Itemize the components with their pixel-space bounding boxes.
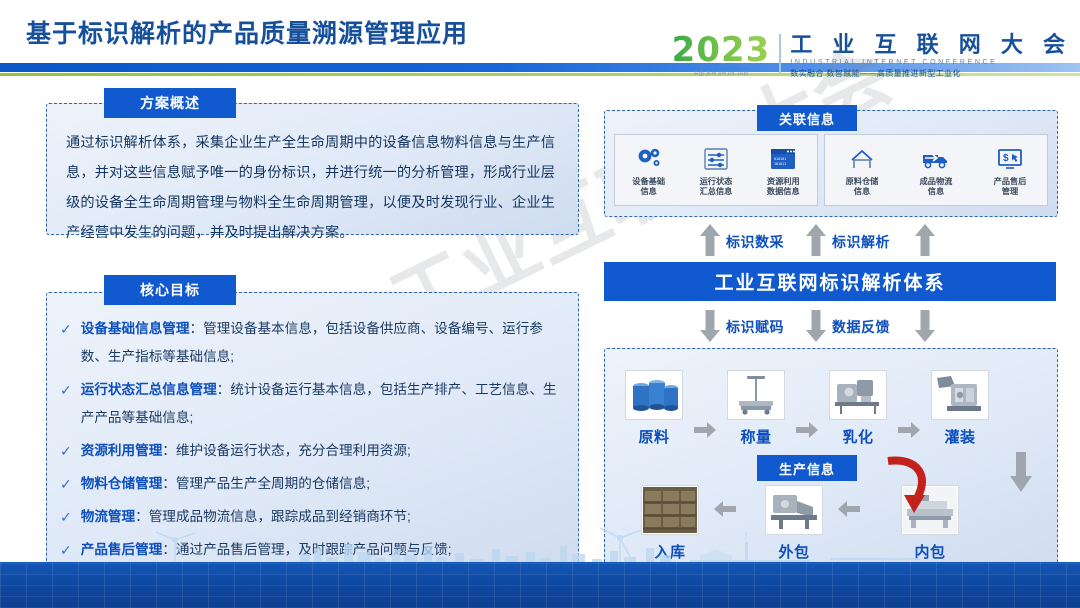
production-step-label: 称量: [740, 426, 771, 447]
arrow-down-icon: [1010, 452, 1032, 492]
production-step-label: 乳化: [842, 426, 873, 447]
platform-scale-icon: [727, 370, 785, 420]
overview-tag: 方案概述: [104, 88, 236, 118]
goal-title: 设备基础信息管理: [81, 321, 190, 336]
production-step: 灌装: [926, 370, 994, 447]
check-icon: ✓: [60, 470, 72, 498]
goal-item: ✓资源利用管理：维护设备运行状态，充分合理利用资源;: [60, 437, 570, 465]
goal-text: 物料仓储管理：管理产品生产全周期的仓储信息;: [81, 470, 570, 498]
flow-down-label-0: 标识赋码: [726, 317, 784, 337]
related-info-item: 设备基础 信息: [617, 144, 681, 197]
arrow-up-icon: [915, 224, 935, 256]
blue-drums-icon: [625, 370, 683, 420]
production-step-label: 原料: [638, 426, 669, 447]
filling-machine-icon: [931, 370, 989, 420]
goal-item: ✓物料仓储管理：管理产品生产全周期的仓储信息;: [60, 470, 570, 498]
related-info-caption: 设备基础 信息: [632, 177, 665, 197]
related-info-caption: 成品物流 信息: [920, 177, 953, 197]
conference-logo: 2023 中国·苏州 8月1日-18日 工 业 互 联 网 大 会 INDUST…: [672, 33, 1072, 79]
related-info-item: 成品物流 信息: [904, 144, 968, 197]
goal-text: 资源利用管理：维护设备运行状态，充分合理利用资源;: [81, 437, 570, 465]
arrow-down-icon: [700, 310, 720, 342]
goal-text: 运行状态汇总信息管理：统计设备运行基本信息，包括生产排产、工艺信息、生产产品等基…: [81, 376, 570, 432]
logo-english-name: INDUSTRIAL INTERNET CONFERENCE: [790, 57, 1072, 68]
svg-text:101011: 101011: [774, 162, 786, 166]
related-left-group: 设备基础 信息运行状态 汇总信息010101101011资源利用 数据信息: [614, 134, 818, 206]
logo-year: 2023: [672, 33, 771, 67]
goals-tag: 核心目标: [104, 275, 236, 305]
goal-item: ✓设备基础信息管理：管理设备基本信息，包括设备供应商、设备编号、运行参数、生产指…: [60, 315, 570, 371]
arrow-left-icon: [714, 501, 736, 517]
related-info-item: 运行状态 汇总信息: [684, 144, 748, 197]
logo-divider: [779, 34, 781, 74]
system-bar: 工业互联网标识解析体系: [604, 262, 1056, 301]
related-info-item: 010101101011资源利用 数据信息: [751, 144, 815, 197]
slide-canvas: 基于标识解析的产品质量溯源管理应用 2023 中国·苏州 8月1日-18日 工 …: [0, 0, 1080, 608]
truck-icon: [922, 144, 950, 174]
arrow-up-icon: [806, 224, 826, 256]
logo-chinese-name: 工 业 互 联 网 大 会: [790, 33, 1072, 57]
arrow-down-icon: [915, 310, 935, 342]
related-info-item: 原料仓储 信息: [830, 144, 894, 197]
gears-icon: [636, 144, 662, 174]
production-step: 原料: [620, 370, 688, 447]
flow-up-label-0: 标识数采: [726, 232, 784, 252]
related-info-caption: 资源利用 数据信息: [767, 177, 800, 197]
related-info-caption: 运行状态 汇总信息: [700, 177, 733, 197]
overview-paragraph: 通过标识解析体系，采集企业生产全生命周期中的设备信息物料信息与生产信息，并对这些…: [66, 128, 566, 248]
related-info-item: $产品售后 管理: [978, 144, 1042, 197]
related-info-caption: 产品售后 管理: [994, 177, 1027, 197]
flow-up-label-1: 标识解析: [832, 232, 890, 252]
check-icon: ✓: [60, 376, 72, 404]
arrow-down-icon: [806, 310, 826, 342]
goal-title: 运行状态汇总信息管理: [81, 382, 217, 397]
warehouse-icon: [849, 144, 875, 174]
related-info-tag: 关联信息: [757, 105, 857, 131]
goal-text: 设备基础信息管理：管理设备基本信息，包括设备供应商、设备编号、运行参数、生产指标…: [81, 315, 570, 371]
arrow-right-icon: [898, 422, 920, 438]
production-step: 称量: [722, 370, 790, 447]
check-icon: ✓: [60, 315, 72, 343]
related-info-caption: 原料仓储 信息: [846, 177, 879, 197]
sliders-icon: [703, 144, 729, 174]
red-loop-arrow-icon: [880, 455, 940, 515]
footer-band: [0, 562, 1080, 608]
production-step-label: 灌装: [944, 426, 975, 447]
logo-tagline: 数实融合 数智赋能——高质量推进新型工业化: [790, 68, 1072, 79]
flow-down-label-1: 数据反馈: [832, 317, 890, 337]
emulsifier-machine-icon: [829, 370, 887, 420]
goal-item: ✓运行状态汇总信息管理：统计设备运行基本信息，包括生产排产、工艺信息、生产产品等…: [60, 376, 570, 432]
arrow-left-icon: [838, 501, 860, 517]
production-step: 乳化: [824, 370, 892, 447]
page-title: 基于标识解析的产品质量溯源管理应用: [26, 14, 468, 50]
arrow-up-icon: [700, 224, 720, 256]
code-window-icon: 010101101011: [770, 144, 796, 174]
svg-text:$: $: [1003, 153, 1009, 164]
related-right-group: 原料仓储 信息成品物流 信息$产品售后 管理: [824, 134, 1048, 206]
goal-title: 资源利用管理: [81, 443, 163, 458]
goal-title: 物流管理: [81, 509, 135, 524]
logo-year-subtitle: 中国·苏州 8月1日-18日: [693, 70, 748, 77]
goal-title: 物料仓储管理: [81, 476, 163, 491]
svg-text:010101: 010101: [774, 157, 786, 161]
arrow-right-icon: [796, 422, 818, 438]
footer-grid-pattern: [0, 562, 1080, 608]
production-info-tag: 生产信息: [757, 455, 857, 481]
arrow-right-icon: [694, 422, 716, 438]
monitor-dollar-icon: $: [997, 144, 1023, 174]
check-icon: ✓: [60, 437, 72, 465]
